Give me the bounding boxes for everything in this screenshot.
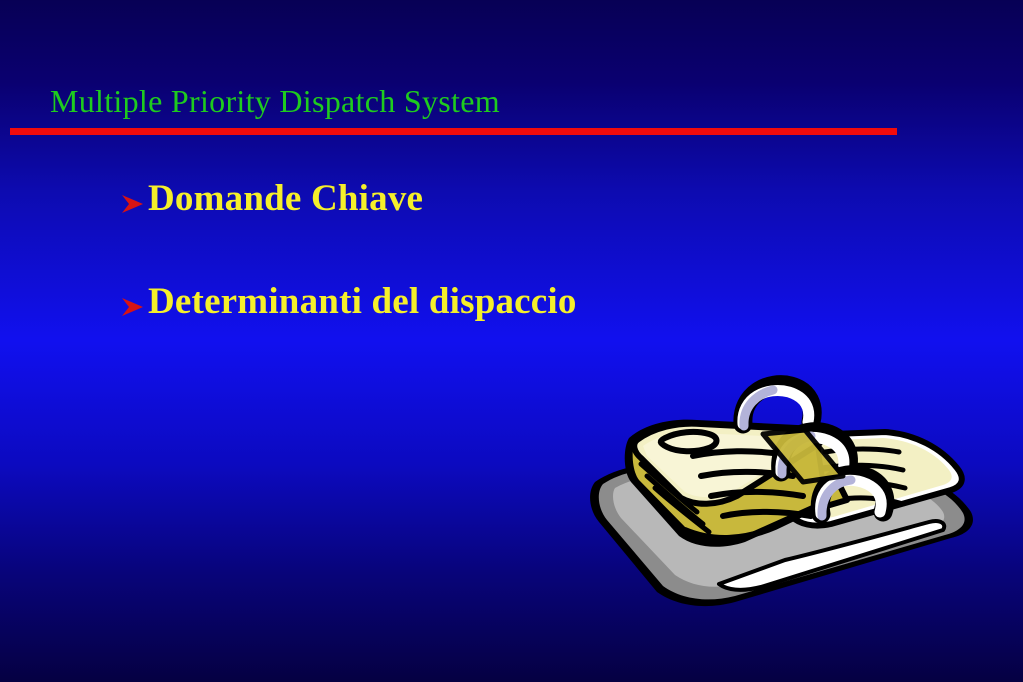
bullet-label-determinanti-del-dispaccio: Determinanti del dispaccio bbox=[148, 283, 577, 320]
spiral-notebook-icon bbox=[585, 372, 985, 612]
slide-canvas: Multiple Priority Dispatch System Domand… bbox=[0, 0, 1023, 682]
arrow-bullet-icon bbox=[118, 292, 148, 330]
page-title: Multiple Priority Dispatch System bbox=[50, 84, 500, 119]
list-item: Determinanti del dispaccio bbox=[118, 283, 898, 321]
bullet-label-domande-chiave: Domande Chiave bbox=[148, 180, 423, 217]
arrow-bullet-icon bbox=[118, 189, 148, 227]
list-item: Domande Chiave bbox=[118, 180, 898, 218]
title-underline-rule bbox=[10, 128, 897, 135]
bullet-list: Domande Chiave Determinanti del dispacci… bbox=[118, 180, 898, 321]
